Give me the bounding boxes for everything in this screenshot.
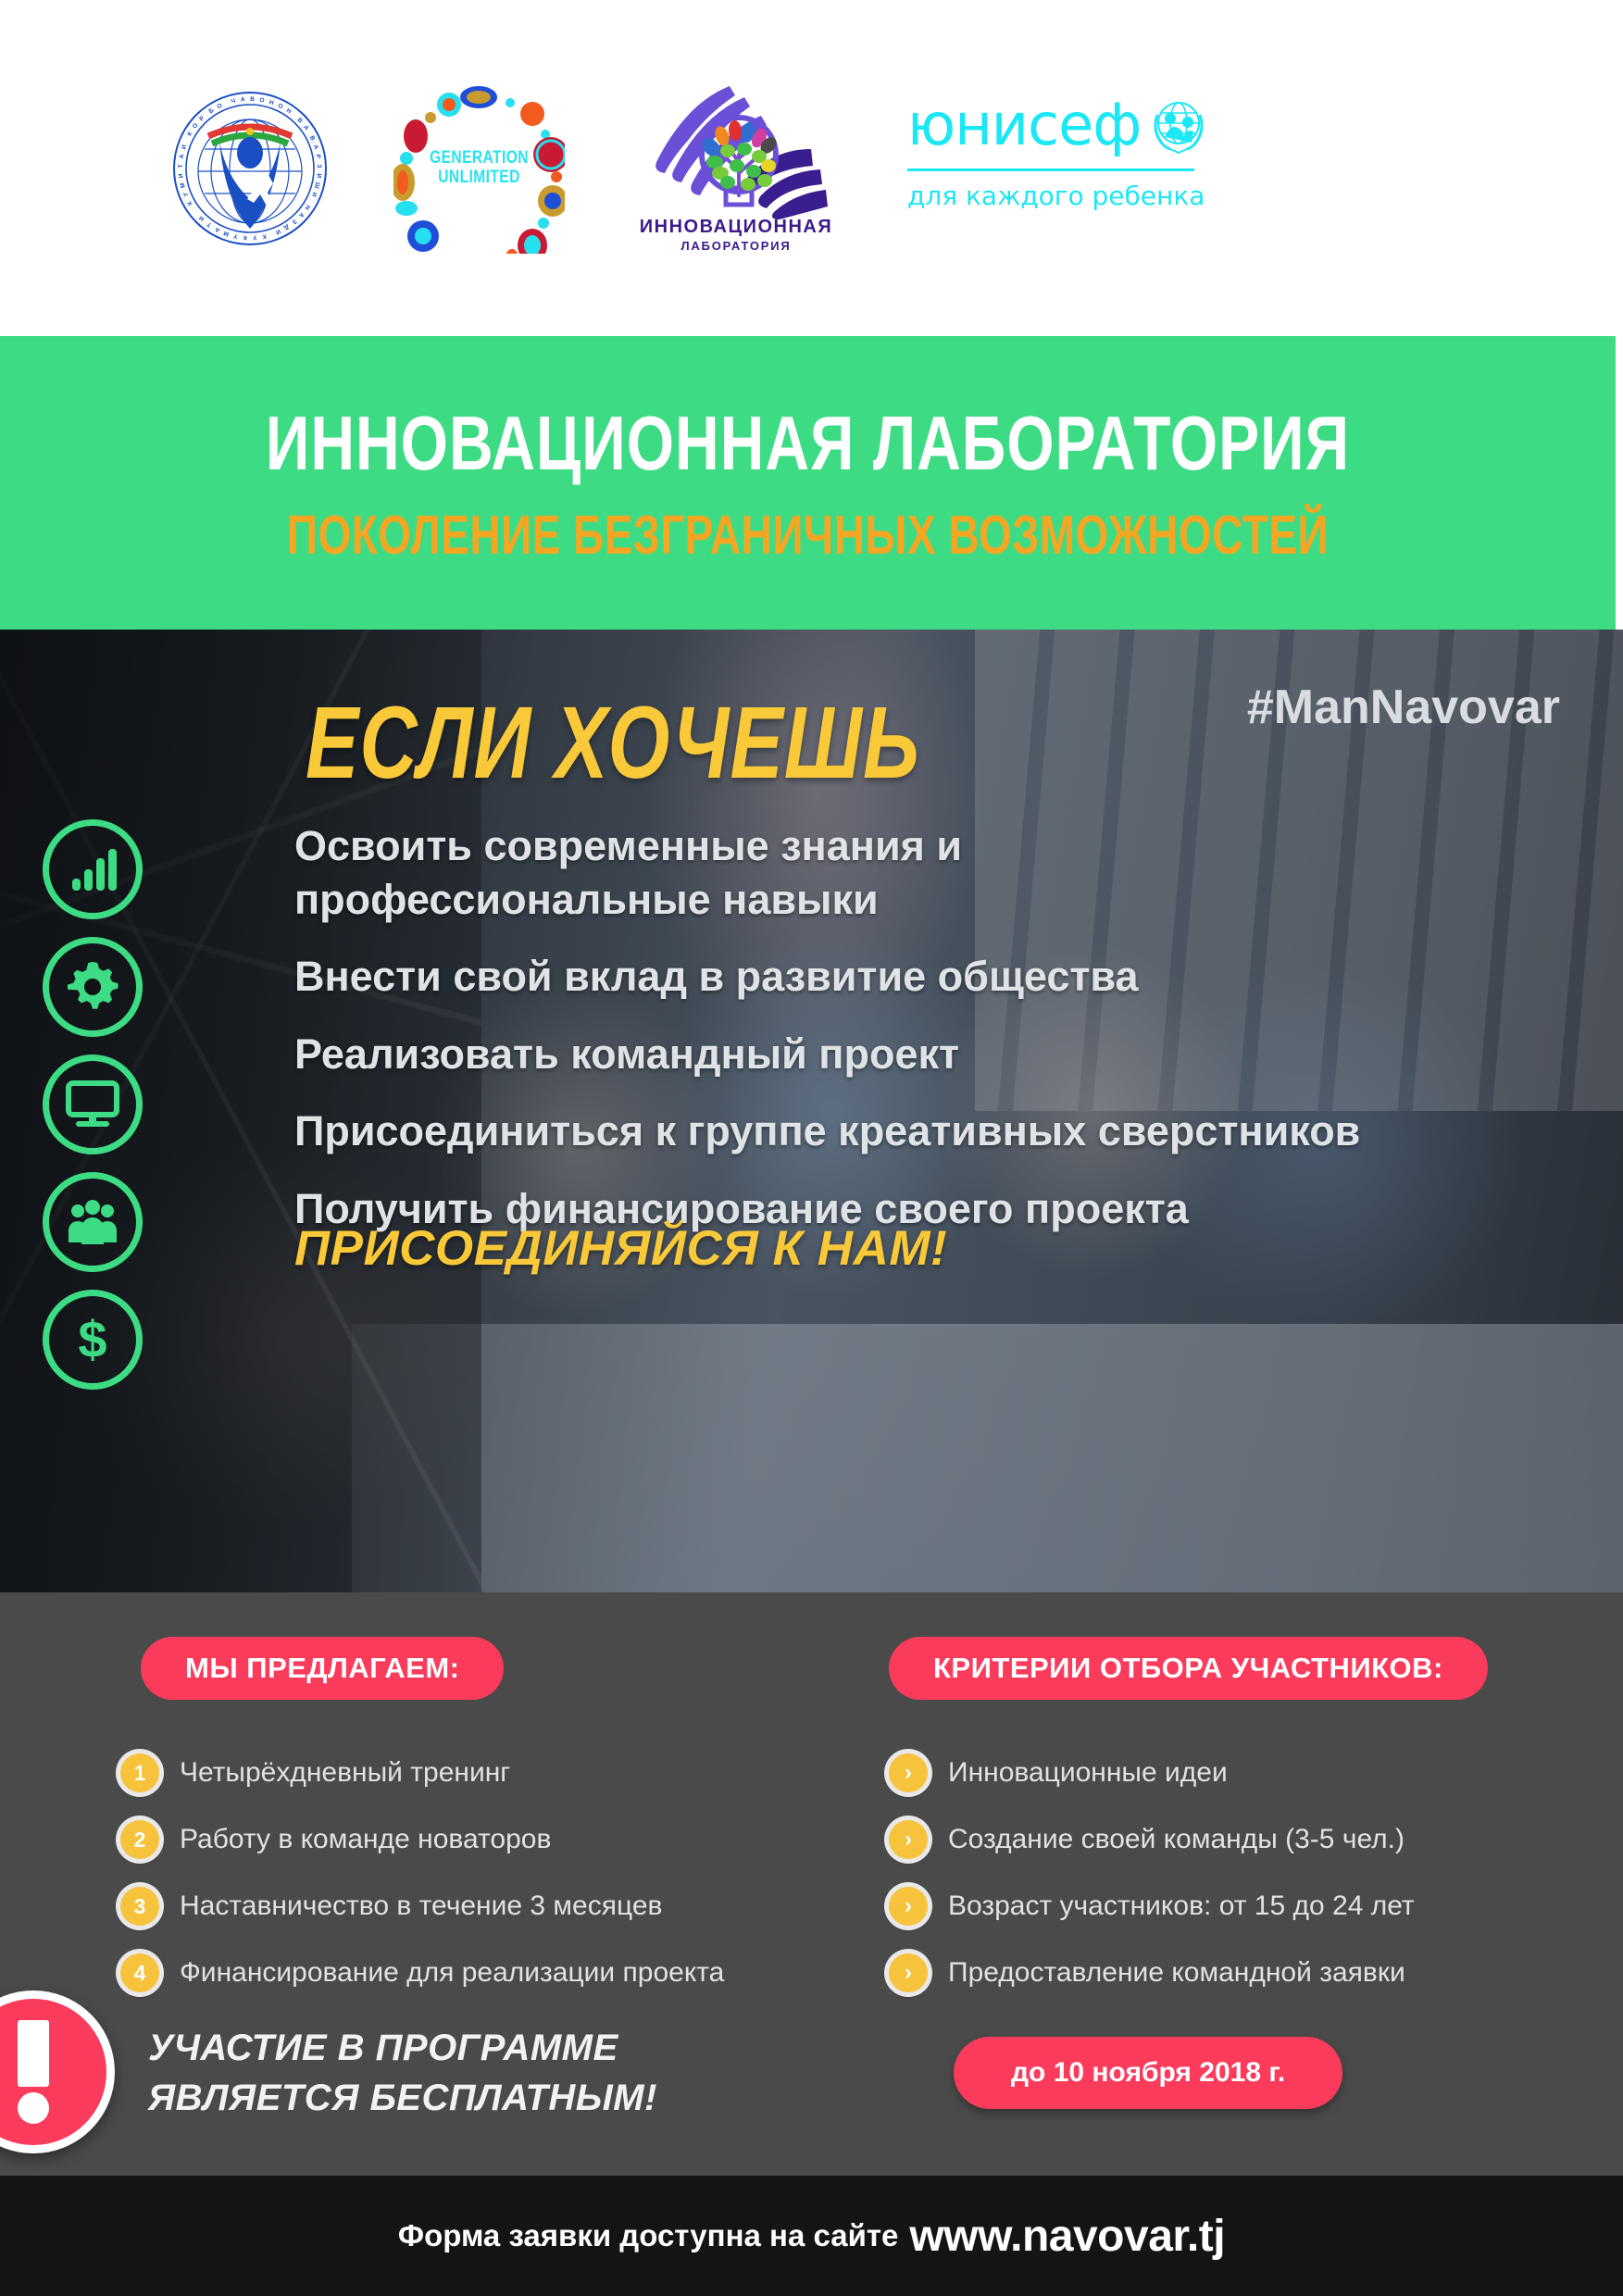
unicef-logo: юнисеф для каждого ребенка	[907, 94, 1213, 243]
criteria-text-3: Возраст участников: от 15 до 24 лет	[948, 1890, 1415, 1923]
chevron-right-icon-1: ›	[889, 1753, 928, 1792]
offers-item-3: 3 Наставничество в течение 3 месяцев	[120, 1887, 824, 1926]
hero-benefit-2: Внести свой вклад в развитие общества	[294, 950, 1368, 1004]
tajik-emblem-icon: К У М И Т А И К О Р Б О Ч А В О Н О Н В	[171, 90, 329, 247]
svg-text:Н: Н	[303, 203, 311, 210]
hero-icon-column: $	[43, 819, 143, 1407]
svg-text:К: К	[186, 130, 194, 137]
svg-text:$: $	[78, 1313, 106, 1366]
offers-heading: МЫ ПРЕДЛАГАЕМ:	[141, 1637, 504, 1700]
free-note-line-1: УЧАСТИЕ В ПРОГРАММЕ	[148, 2023, 657, 2073]
offers-number-2: 2	[120, 1820, 159, 1859]
offers-number-1: 1	[120, 1753, 159, 1792]
criteria-text-2: Создание своей команды (3-5 чел.)	[948, 1823, 1405, 1856]
criteria-text-1: Инновационные идеи	[948, 1756, 1228, 1790]
monitor-icon-badge	[43, 1054, 143, 1154]
chevron-right-icon-2: ›	[889, 1820, 928, 1859]
gu-line-2: UNLIMITED	[409, 168, 550, 189]
criteria-text-4: Предоставление командной заявки	[948, 1956, 1405, 1990]
svg-text:З: З	[316, 164, 322, 168]
people-group-icon	[66, 1198, 119, 1246]
chevron-right-icon-3: ›	[889, 1887, 928, 1926]
svg-text:И: И	[178, 172, 184, 178]
footer-prefix: Форма заявки доступна на сайте	[398, 2218, 899, 2253]
lab-line-1: ИННОВАЦИОННАЯ	[630, 216, 843, 239]
svg-text:О: О	[259, 96, 265, 104]
bar-chart-icon-badge	[43, 819, 143, 919]
svg-text:И: И	[310, 191, 318, 197]
offers-item-2: 2 Работу в команде новаторов	[120, 1820, 824, 1859]
svg-text:Р: Р	[198, 114, 206, 122]
offers-column: МЫ ПРЕДЛАГАЕМ: 1 Четырёхдневный тренинг …	[120, 1637, 824, 2020]
green-banner: ИННОВАЦИОННАЯ ЛАБОРАТОРИЯ ПОКОЛЕНИЕ БЕЗГ…	[0, 336, 1616, 630]
offers-number-3: 3	[120, 1887, 159, 1926]
svg-text:У: У	[252, 233, 256, 240]
svg-text:В: В	[295, 117, 304, 124]
offers-text-3: Наставничество в течение 3 месяцев	[180, 1890, 662, 1923]
footer-bar: Форма заявки доступна на сайте www.navov…	[0, 2176, 1623, 2296]
svg-text:Н: Н	[285, 107, 293, 116]
svg-text:А: А	[297, 210, 306, 218]
unicef-emblem-icon	[1148, 94, 1209, 156]
criteria-item-2: › Создание своей команды (3-5 чел.)	[889, 1820, 1592, 1859]
svg-text:З: З	[291, 218, 298, 225]
hero-benefit-list: Освоить современные знания и профессиона…	[294, 819, 1368, 1260]
hero-call-to-action: ПРИСОЕДИНЯЙСЯ К НАМ!	[294, 1220, 947, 1277]
chevron-right-icon-4: ›	[889, 1953, 928, 1992]
banner-subtitle: ПОКОЛЕНИЕ БЕЗГРАНИЧНЫХ ВОЗМОЖНОСТЕЙ	[287, 501, 1329, 566]
hashtag: #ManNavovar	[1247, 680, 1560, 735]
lab-line-2: ЛАБОРАТОРИЯ	[630, 239, 843, 254]
dollar-icon: $	[69, 1313, 117, 1366]
generation-unlimited-logo: GENERATION UNLIMITED	[393, 82, 565, 254]
bar-chart-icon	[67, 843, 119, 895]
svg-text:Х: Х	[261, 231, 267, 239]
monitor-icon	[66, 1080, 119, 1129]
svg-text:М: М	[222, 229, 230, 237]
footer-url[interactable]: www.navovar.tj	[909, 2211, 1225, 2262]
gu-line-1: GENERATION	[409, 148, 550, 168]
people-group-icon-badge	[43, 1172, 143, 1272]
innovation-lab-logo: ИННОВАЦИОННАЯ ЛАБОРАТОРИЯ	[630, 81, 843, 256]
svg-text:А: А	[179, 153, 186, 158]
unicef-tagline: для каждого ребенка	[907, 181, 1213, 211]
svg-text:И: И	[315, 173, 321, 179]
tajikistan-youth-sports-committee-logo: К У М И Т А И К О Р Б О Ч А В О Н О Н В	[171, 90, 329, 247]
dollar-icon-badge: $	[43, 1290, 143, 1390]
svg-text:Ч: Ч	[231, 97, 237, 105]
svg-text:В: В	[250, 95, 255, 102]
gear-icon-badge	[43, 937, 143, 1037]
svg-text:А: А	[312, 143, 319, 150]
svg-text:О: О	[216, 102, 223, 110]
hero-benefit-3: Реализовать командный проект	[294, 1028, 1368, 1081]
exclamation-icon	[18, 2020, 49, 2124]
svg-text:Т: Т	[178, 164, 184, 168]
unicef-row: юнисеф	[907, 94, 1213, 156]
svg-text:В: В	[308, 134, 316, 142]
banner-title: ИННОВАЦИОННАЯ ЛАБОРАТОРИЯ	[266, 398, 1350, 486]
svg-text:И: И	[274, 227, 281, 234]
hero-headline: ЕСЛИ ХОЧЕШЬ	[306, 685, 920, 803]
offers-text-4: Финансирование для реализации проекта	[180, 1956, 724, 1990]
offers-number-4: 4	[120, 1953, 159, 1992]
generation-unlimited-wordmark: GENERATION UNLIMITED	[393, 148, 565, 189]
svg-text:Т: Т	[206, 220, 213, 228]
exclamation-bar	[18, 2020, 49, 2087]
svg-text:Д: Д	[282, 222, 290, 231]
unicef-wordmark: юнисеф	[907, 96, 1141, 154]
svg-text:А: А	[214, 225, 221, 233]
hero-benefit-1: Освоить современные знания и профессиона…	[294, 819, 1368, 926]
free-note-line-2: ЯВЛЯЕТСЯ БЕСПЛАТНЫМ!	[148, 2073, 657, 2123]
svg-text:У: У	[232, 231, 238, 239]
deadline-badge: до 10 ноября 2018 г.	[954, 2037, 1342, 2109]
offers-text-2: Работу в команде новаторов	[180, 1823, 551, 1856]
svg-text:У: У	[182, 190, 190, 196]
svg-text:Н: Н	[268, 99, 275, 106]
svg-text:Б: Б	[207, 106, 215, 115]
gear-icon	[66, 960, 119, 1014]
exclamation-dot	[18, 2092, 49, 2124]
offers-item-4: 4 Финансирование для реализации проекта	[120, 1953, 824, 1992]
offers-item-1: 1 Четырёхдневный тренинг	[120, 1753, 824, 1792]
offers-list: 1 Четырёхдневный тренинг 2 Работу в кома…	[120, 1753, 824, 1992]
svg-text:Р: Р	[315, 154, 322, 159]
criteria-column: КРИТЕРИИ ОТБОРА УЧАСТНИКОВ: › Инновацион…	[889, 1637, 1592, 2020]
svg-text:Ш: Ш	[313, 181, 320, 188]
svg-text:И: И	[198, 214, 206, 222]
criteria-list: › Инновационные идеи › Создание своей ко…	[889, 1753, 1592, 1992]
svg-text:О: О	[277, 102, 284, 110]
svg-text:И: И	[181, 143, 188, 150]
criteria-item-4: › Предоставление командной заявки	[889, 1953, 1592, 1992]
svg-text:О: О	[192, 121, 200, 129]
svg-text:К: К	[243, 233, 247, 240]
hero-benefit-4: Присоединиться к группе креативных сверс…	[294, 1104, 1368, 1158]
svg-text:К: К	[186, 198, 194, 206]
criteria-heading: КРИТЕРИИ ОТБОРА УЧАСТНИКОВ:	[889, 1637, 1488, 1700]
unicef-divider	[907, 168, 1194, 171]
svg-text:М: М	[180, 181, 187, 189]
logo-bar: К У М И Т А И К О Р Б О Ч А В О Н О Н В	[0, 0, 1623, 336]
lightbulb-tree-icon	[630, 81, 843, 219]
criteria-item-1: › Инновационные идеи	[889, 1753, 1592, 1792]
svg-text:А: А	[240, 96, 245, 103]
free-participation-note: УЧАСТИЕ В ПРОГРАММЕ ЯВЛЯЕТСЯ БЕСПЛАТНЫМ!	[148, 2023, 657, 2123]
criteria-item-3: › Возраст участников: от 15 до 24 лет	[889, 1887, 1592, 1926]
offers-text-1: Четырёхдневный тренинг	[180, 1756, 510, 1790]
svg-text:А: А	[302, 124, 310, 131]
innovation-lab-wordmark: ИННОВАЦИОННАЯ ЛАБОРАТОРИЯ	[630, 216, 843, 254]
